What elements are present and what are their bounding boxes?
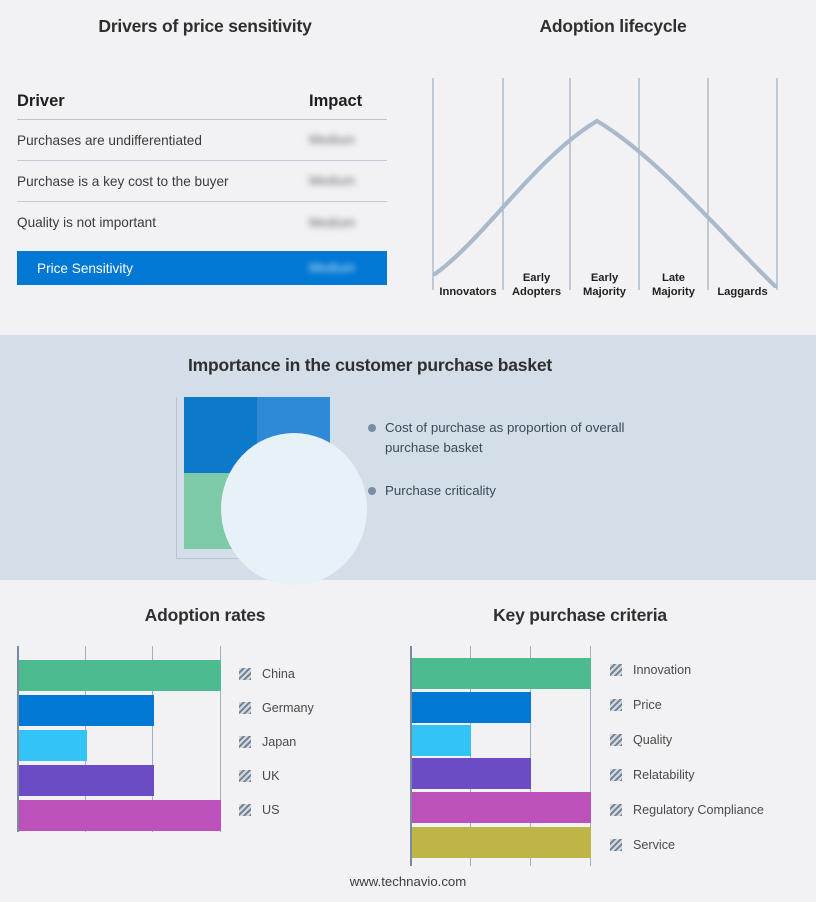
legend-item: Purchase criticality <box>368 481 658 501</box>
adoption-lifecycle-chart: Innovators Early Adopters Early Majority… <box>425 78 785 310</box>
summary-impact-cell: Medium <box>309 259 387 277</box>
legend-item: Cost of purchase as proportion of overal… <box>368 418 658 458</box>
column-header-driver: Driver <box>17 92 309 111</box>
stage-label-early-majority: Early Majority <box>570 271 639 299</box>
impact-value-redacted: Medium <box>309 216 355 230</box>
price-sensitivity-summary-row: Price Sensitivity Medium <box>17 251 387 285</box>
impact-value-cell: Medium <box>309 172 387 190</box>
matrix-position-marker <box>221 433 367 585</box>
legend-label: Service <box>633 838 675 852</box>
bar-innovation <box>412 658 591 689</box>
stage-label-late-majority: Late Majority <box>639 271 708 299</box>
legend-label: Innovation <box>633 663 691 677</box>
hatched-swatch-icon <box>239 668 251 680</box>
purchase-basket-matrix <box>176 397 346 565</box>
legend-item-quality: Quality <box>610 733 764 747</box>
hatched-swatch-icon <box>239 804 251 816</box>
legend-label: Relatability <box>633 768 695 782</box>
drivers-panel-title: Drivers of price sensitivity <box>0 16 410 37</box>
legend-item-innovation: Innovation <box>610 663 764 677</box>
table-row: Purchases are undifferentiated Medium <box>17 120 387 161</box>
bar-germany <box>19 695 154 726</box>
driver-label: Purchases are undifferentiated <box>17 133 309 148</box>
stage-label-innovators: Innovators <box>433 285 503 299</box>
legend-label: Purchase criticality <box>385 481 496 501</box>
hatched-swatch-icon <box>610 769 622 781</box>
legend-label: UK <box>262 769 280 783</box>
stage-label-early-adopters: Early Adopters <box>503 271 570 299</box>
legend-label: Price <box>633 698 662 712</box>
basket-legend: Cost of purchase as proportion of overal… <box>368 418 658 523</box>
legend-item-china: China <box>239 667 314 681</box>
drivers-table: Driver Impact Purchases are undifferenti… <box>17 92 387 285</box>
impact-value-redacted: Medium <box>309 133 355 147</box>
legend-item-price: Price <box>610 698 764 712</box>
column-header-impact: Impact <box>309 92 387 111</box>
legend-label: Quality <box>633 733 672 747</box>
legend-item-japan: Japan <box>239 735 314 749</box>
criteria-plot-area <box>410 646 592 866</box>
bullet-dot-icon <box>368 487 376 495</box>
legend-label: Germany <box>262 701 314 715</box>
criteria-legend: Innovation Price Quality Relatability Re… <box>610 663 764 852</box>
matrix-quadrants <box>184 397 330 549</box>
infographic-page: Drivers of price sensitivity Adoption li… <box>0 0 816 902</box>
hatched-swatch-icon <box>610 734 622 746</box>
rates-plot-area <box>17 646 221 832</box>
legend-label: US <box>262 803 280 817</box>
bar-relatability <box>412 758 531 789</box>
bar-uk <box>19 765 154 796</box>
legend-item-uk: UK <box>239 769 314 783</box>
bar-quality <box>412 725 471 756</box>
footer-url: www.technavio.com <box>0 874 816 889</box>
legend-label: Regulatory Compliance <box>633 803 764 817</box>
hatched-swatch-icon <box>610 839 622 851</box>
legend-item-relatability: Relatability <box>610 768 764 782</box>
driver-label: Purchase is a key cost to the buyer <box>17 174 309 189</box>
table-row: Purchase is a key cost to the buyer Medi… <box>17 161 387 202</box>
hatched-swatch-icon <box>239 702 251 714</box>
bar-price <box>412 692 531 723</box>
stage-label-laggards: Laggards <box>708 285 777 299</box>
bar-china <box>19 660 221 691</box>
driver-label: Quality is not important <box>17 215 309 230</box>
adoption-rates-chart: China Germany Japan UK US <box>17 646 397 832</box>
summary-impact-redacted: Medium <box>309 261 355 275</box>
rates-legend: China Germany Japan UK US <box>239 667 314 817</box>
bar-service <box>412 827 591 858</box>
basket-panel-title: Importance in the customer purchase bask… <box>0 355 740 376</box>
adoption-panel-title: Adoption lifecycle <box>410 16 816 37</box>
legend-label: Cost of purchase as proportion of overal… <box>385 418 658 458</box>
legend-label: China <box>262 667 295 681</box>
hatched-swatch-icon <box>239 770 251 782</box>
impact-value-cell: Medium <box>309 131 387 149</box>
impact-value-cell: Medium <box>309 214 387 232</box>
legend-item-germany: Germany <box>239 701 314 715</box>
hatched-swatch-icon <box>610 664 622 676</box>
impact-value-redacted: Medium <box>309 174 355 188</box>
legend-label: Japan <box>262 735 296 749</box>
key-purchase-criteria-chart: Innovation Price Quality Relatability Re… <box>410 646 810 866</box>
legend-item-service: Service <box>610 838 764 852</box>
summary-driver-label: Price Sensitivity <box>37 261 309 276</box>
bar-japan <box>19 730 87 761</box>
legend-item-us: US <box>239 803 314 817</box>
table-header-row: Driver Impact <box>17 92 387 120</box>
lifecycle-curve <box>435 121 775 286</box>
bar-us <box>19 800 221 831</box>
hatched-swatch-icon <box>610 699 622 711</box>
bullet-dot-icon <box>368 424 376 432</box>
hatched-swatch-icon <box>239 736 251 748</box>
bar-regulatory-compliance <box>412 792 591 823</box>
table-row: Quality is not important Medium <box>17 202 387 243</box>
legend-item-regulatory-compliance: Regulatory Compliance <box>610 803 764 817</box>
hatched-swatch-icon <box>610 804 622 816</box>
rates-panel-title: Adoption rates <box>0 605 410 626</box>
criteria-panel-title: Key purchase criteria <box>400 605 760 626</box>
